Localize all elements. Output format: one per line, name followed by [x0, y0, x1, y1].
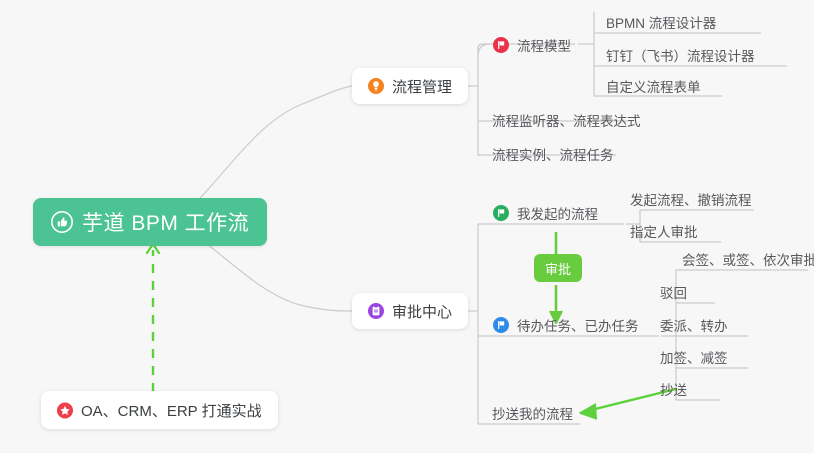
node-delegate-transfer-label: 委派、转办 — [660, 315, 728, 335]
floating-node-oa-crm-erp-label: OA、CRM、ERP 打通实战 — [81, 400, 262, 421]
node-designated-approval[interactable]: 指定人审批 — [624, 217, 705, 244]
node-start-cancel-process[interactable]: 发起流程、撤销流程 — [624, 185, 759, 212]
dashed-up-arrow — [147, 244, 159, 392]
node-carbon-copy-label: 抄送 — [660, 379, 687, 399]
node-dingtalk-feishu-designer-label: 钉钉（飞书）流程设计器 — [606, 45, 755, 65]
approval-badge-label: 审批 — [545, 259, 571, 278]
node-custom-process-form[interactable]: 自定义流程表单 — [600, 72, 708, 99]
branch-process-management-label: 流程管理 — [392, 76, 452, 97]
node-process-listener-expression-label: 流程监听器、流程表达式 — [492, 110, 641, 130]
branch-process-management[interactable]: 流程管理 — [352, 68, 468, 104]
root-node-label: 芋道 BPM 工作流 — [82, 207, 249, 237]
mindmap-canvas: 芋道 BPM 工作流 流程管理 流程模型 BPMN 流程设计器 钉钉（飞书）流程 — [0, 0, 814, 453]
node-process-listener-expression[interactable]: 流程监听器、流程表达式 — [486, 106, 648, 133]
node-cc-my-process-label: 抄送我的流程 — [492, 403, 573, 423]
node-add-remove-sign[interactable]: 加签、减签 — [654, 343, 735, 370]
node-carbon-copy[interactable]: 抄送 — [654, 375, 694, 402]
node-process-model[interactable]: 流程模型 — [487, 31, 578, 58]
approval-badge[interactable]: 审批 — [534, 254, 582, 282]
node-bpmn-designer[interactable]: BPMN 流程设计器 — [600, 8, 723, 35]
node-todo-done-tasks-label: 待办任务、已办任务 — [517, 315, 639, 335]
node-process-instance-task-label: 流程实例、流程任务 — [492, 144, 614, 164]
node-cc-my-process[interactable]: 抄送我的流程 — [486, 399, 580, 426]
node-countersign-orsign-sequential[interactable]: 会签、或签、依次审批 — [676, 245, 814, 272]
lightbulb-icon — [368, 78, 384, 94]
node-custom-process-form-label: 自定义流程表单 — [606, 76, 701, 96]
node-dingtalk-feishu-designer[interactable]: 钉钉（飞书）流程设计器 — [600, 41, 762, 68]
node-process-instance-task[interactable]: 流程实例、流程任务 — [486, 140, 621, 167]
branch-approval-center-label: 审批中心 — [392, 301, 452, 322]
node-add-remove-sign-label: 加签、减签 — [660, 347, 728, 367]
node-process-model-label: 流程模型 — [517, 35, 571, 55]
clipboard-icon — [368, 303, 384, 319]
flag-red-icon — [493, 37, 509, 53]
node-reject[interactable]: 驳回 — [654, 278, 694, 305]
root-node[interactable]: 芋道 BPM 工作流 — [33, 198, 267, 246]
node-countersign-orsign-sequential-label: 会签、或签、依次审批 — [682, 249, 814, 269]
branch-approval-center[interactable]: 审批中心 — [352, 293, 468, 329]
flag-blue-icon — [493, 317, 509, 333]
node-my-initiated-process[interactable]: 我发起的流程 — [487, 199, 605, 226]
node-designated-approval-label: 指定人审批 — [630, 221, 698, 241]
thumbs-up-icon — [51, 211, 73, 233]
star-icon — [57, 402, 73, 418]
node-my-initiated-process-label: 我发起的流程 — [517, 203, 598, 223]
node-todo-done-tasks[interactable]: 待办任务、已办任务 — [487, 311, 646, 338]
node-start-cancel-process-label: 发起流程、撤销流程 — [630, 189, 752, 209]
flag-green-icon — [493, 205, 509, 221]
node-reject-label: 驳回 — [660, 282, 687, 302]
floating-node-oa-crm-erp[interactable]: OA、CRM、ERP 打通实战 — [41, 391, 278, 429]
node-delegate-transfer[interactable]: 委派、转办 — [654, 311, 735, 338]
node-bpmn-designer-label: BPMN 流程设计器 — [606, 12, 716, 32]
